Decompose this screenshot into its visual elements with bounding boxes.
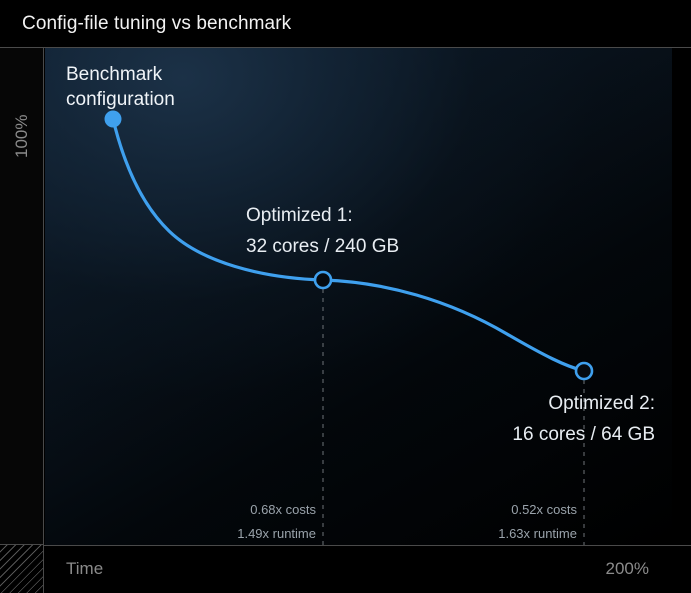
y-axis-max-label: 100% bbox=[0, 37, 20, 80]
plot-area bbox=[45, 48, 672, 545]
axis-origin-hatch bbox=[0, 545, 44, 593]
plot-right-margin bbox=[672, 48, 691, 545]
page-title: Config-file tuning vs benchmark bbox=[22, 13, 291, 35]
x-axis: Time 200% bbox=[44, 545, 691, 593]
data-point-optimized-2[interactable] bbox=[576, 363, 592, 379]
stats-optimized-2-costs: 0.52x costs bbox=[380, 498, 577, 522]
data-point-benchmark[interactable] bbox=[105, 111, 122, 128]
y-axis: 100% Cost bbox=[0, 48, 44, 545]
chart-svg bbox=[45, 48, 672, 545]
window-titlebar: Config-file tuning vs benchmark bbox=[0, 0, 691, 48]
stats-optimized-2-runtime: 1.63x runtime bbox=[380, 522, 577, 546]
stats-optimized-1-costs: 0.68x costs bbox=[120, 498, 316, 522]
chart-window: Config-file tuning vs benchmark 100% Cos… bbox=[0, 0, 691, 593]
x-axis-title: Time bbox=[66, 559, 103, 579]
stats-optimized-2: 0.52x costs 1.63x runtime bbox=[380, 498, 577, 546]
data-point-optimized-1[interactable] bbox=[315, 272, 331, 288]
cost-curve bbox=[113, 119, 584, 371]
stats-optimized-1-runtime: 1.49x runtime bbox=[120, 522, 316, 546]
x-axis-max-label: 200% bbox=[606, 559, 649, 579]
stats-optimized-1: 0.68x costs 1.49x runtime bbox=[120, 498, 316, 546]
